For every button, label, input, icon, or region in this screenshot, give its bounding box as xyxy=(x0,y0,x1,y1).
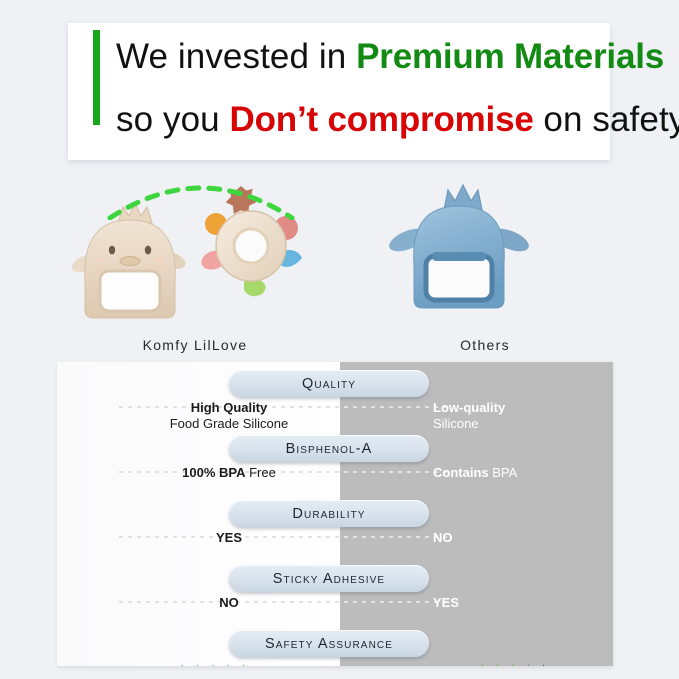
right-value-strong: Contains xyxy=(433,465,489,480)
left-value-light: Food Grade Silicone xyxy=(129,416,329,432)
row-label-pill: Quality xyxy=(229,370,429,397)
product-name-label: Others xyxy=(350,337,620,353)
row-label-pill: Sticky Adhesive xyxy=(229,565,429,592)
left-value-strong: YES xyxy=(216,530,242,545)
product-komfy-lillove: Komfy LilLove xyxy=(60,168,330,360)
row-label: Sticky Adhesive xyxy=(273,571,385,587)
headline-line-2-emphasis: Don’t compromise xyxy=(230,100,534,139)
komfy-lillove-product-image xyxy=(60,168,330,333)
right-star-rating: ★★★★★ xyxy=(475,664,552,666)
right-value-strong: Low-quality xyxy=(433,400,505,416)
row-label: Bisphenol-A xyxy=(286,441,373,457)
headline-line-1-emphasis: Premium Materials xyxy=(356,37,664,76)
product-showcase: Komfy LilLove xyxy=(0,168,679,360)
row-label-pill: Bisphenol-A xyxy=(229,435,429,462)
right-value-cell: YES xyxy=(433,595,459,611)
left-value-cell: NO xyxy=(129,595,329,611)
row-label: Quality xyxy=(302,376,356,392)
left-value-light: Free xyxy=(246,465,276,480)
chick-teether-shape xyxy=(69,203,187,318)
star-icon: ★ xyxy=(521,663,536,666)
star-icon: ★ xyxy=(475,663,490,666)
row-label-pill: Durability xyxy=(229,500,429,527)
headline-line-1-plain: We invested in xyxy=(116,37,356,76)
row-label: Durability xyxy=(292,506,365,522)
star-icon: ★ xyxy=(175,663,190,666)
row-label: Safety Assurance xyxy=(265,636,393,652)
headline-line-1: We invested in Premium Materials xyxy=(116,25,602,88)
left-value-strong: High Quality xyxy=(129,400,329,416)
star-icon: ★ xyxy=(506,663,521,666)
comparison-table: Quality High Quality Food Grade Silicone… xyxy=(57,362,613,666)
star-icon: ★ xyxy=(206,663,221,666)
left-value-cell: High Quality Food Grade Silicone xyxy=(129,400,329,432)
left-value-cell: YES xyxy=(129,530,329,546)
product-name-label: Komfy LilLove xyxy=(60,337,330,353)
right-value-cell: Contains BPA xyxy=(433,465,517,481)
star-icon: ★ xyxy=(190,663,205,666)
blue-mitten-teether-illustration xyxy=(350,168,620,333)
product-others: Others xyxy=(350,168,620,360)
right-value-strong: NO xyxy=(433,530,453,545)
green-dashed-arc-icon xyxy=(106,172,296,220)
headline-line-2: so you Don’t compromise on safety xyxy=(116,88,602,151)
right-value-light: BPA xyxy=(489,465,518,480)
star-icon: ★ xyxy=(221,663,236,666)
right-value-light: Silicone xyxy=(433,416,505,432)
product-comparison-infographic: We invested in Premium Materials so you … xyxy=(0,0,679,679)
star-icon: ★ xyxy=(236,663,251,666)
row-label-pill: Safety Assurance xyxy=(229,630,429,657)
left-value-strong: NO xyxy=(219,595,239,610)
headline-text-block: We invested in Premium Materials so you … xyxy=(116,25,602,151)
headline-line-2-plain-pre: so you xyxy=(116,100,230,139)
star-icon: ★ xyxy=(536,663,551,666)
right-value-cell: NO xyxy=(433,530,453,546)
headline-line-2-plain-post: on safety xyxy=(534,100,679,139)
left-star-rating: ★★★★★ xyxy=(175,664,252,666)
star-icon: ★ xyxy=(490,663,505,666)
right-value-strong: YES xyxy=(433,595,459,610)
left-value-strong: 100% BPA xyxy=(182,465,245,480)
green-accent-bar xyxy=(93,30,100,125)
headline-banner: We invested in Premium Materials so you … xyxy=(68,23,610,160)
left-value-cell: 100% BPA Free xyxy=(129,465,329,481)
right-value-cell: Low-quality Silicone xyxy=(433,400,505,432)
others-product-image xyxy=(350,168,620,333)
